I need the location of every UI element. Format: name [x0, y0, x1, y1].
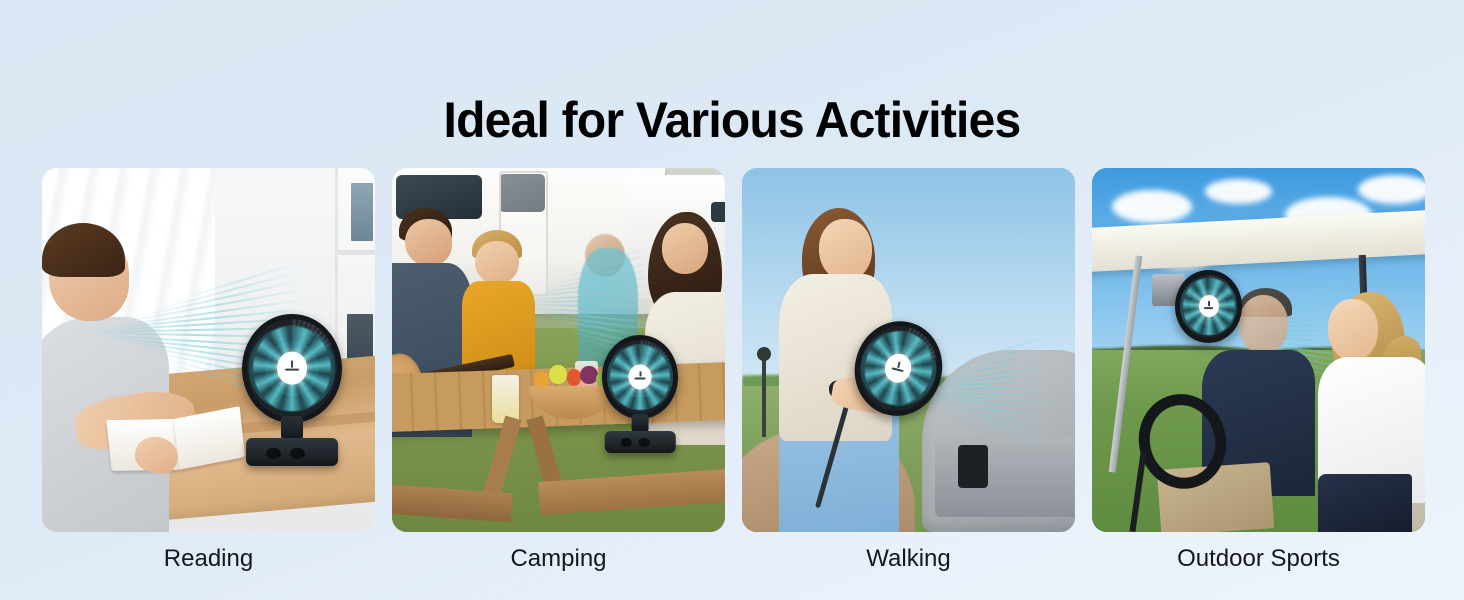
- scene-reading-image: [42, 168, 375, 532]
- fan-clip-base: [605, 431, 675, 453]
- clip-fan-product: [242, 314, 342, 423]
- caption-reading: Reading: [42, 544, 375, 574]
- van-window: [711, 202, 725, 222]
- activity-panel-reading[interactable]: [42, 168, 375, 532]
- fan-neck: [632, 414, 649, 432]
- activity-panel-list: [42, 168, 1422, 532]
- cloud: [1358, 175, 1425, 204]
- man-head: [1239, 295, 1289, 353]
- fruit: [580, 366, 597, 384]
- scene-walking-image: [742, 168, 1075, 532]
- woman-head: [1328, 299, 1378, 361]
- woman-shorts: [1318, 474, 1411, 532]
- cloud: [1205, 179, 1272, 204]
- clip-fan-product: [1175, 270, 1242, 343]
- activity-panel-walking[interactable]: [742, 168, 1075, 532]
- fruit: [549, 365, 566, 385]
- woman-head: [819, 219, 872, 281]
- fruit: [534, 371, 550, 388]
- fan-power-icon: [277, 352, 307, 385]
- man-head: [405, 219, 452, 266]
- boy-head: [475, 241, 518, 285]
- lamp-post: [762, 357, 766, 437]
- stroller-basket: [935, 437, 1075, 517]
- shelf-book: [351, 183, 373, 241]
- caption-outdoor-sports: Outdoor Sports: [1092, 544, 1425, 574]
- fan-clip-base: [246, 438, 338, 466]
- page-title: Ideal for Various Activities: [29, 92, 1434, 148]
- caption-walking: Walking: [742, 544, 1075, 574]
- scene-camping-image: [392, 168, 725, 532]
- activity-panel-camping[interactable]: [392, 168, 725, 532]
- fan-power-icon: [1199, 295, 1219, 317]
- cloud: [1112, 190, 1192, 223]
- fruit: [567, 369, 582, 385]
- caption-camping: Camping: [392, 544, 725, 574]
- promo-banner: Ideal for Various Activities: [0, 0, 1464, 600]
- clip-fan-product: [602, 335, 679, 419]
- caption-row: Reading Camping Walking Outdoor Sports: [42, 544, 1422, 574]
- fan-power-icon: [629, 365, 652, 390]
- fan-neck: [281, 416, 303, 440]
- stroller-joint: [958, 445, 988, 489]
- woman-head: [662, 223, 709, 274]
- activity-panel-outdoor-sports[interactable]: [1092, 168, 1425, 532]
- scene-outdoor-sports-image: [1092, 168, 1425, 532]
